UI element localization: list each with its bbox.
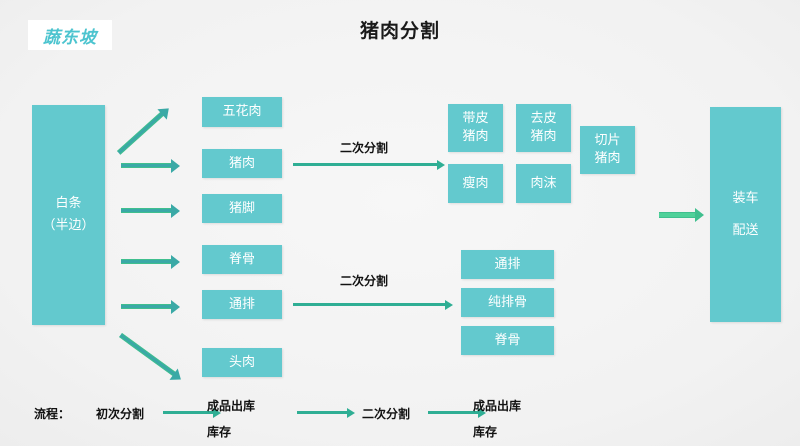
node-primary-cut-3[interactable]: 脊骨 (202, 245, 282, 274)
edge-label-secondary-cut-bone: 二次分割 (340, 272, 388, 289)
process-step-4: 成品出库 库存 (473, 393, 521, 445)
node-meat-secondary-3[interactable]: 瘦肉 (448, 164, 503, 203)
node-source-carcass[interactable]: 白条 （半边） (32, 105, 105, 325)
process-step-2-line1: 成品出库 (207, 393, 255, 419)
node-meat-secondary-1[interactable]: 去皮 猪肉 (516, 104, 571, 152)
node-meat-secondary-3-line1: 瘦肉 (462, 175, 488, 193)
node-delivery[interactable]: 装车 配送 (710, 107, 781, 322)
page-title: 猪肉分割 (0, 16, 800, 43)
node-meat-secondary-2[interactable]: 切片 猪肉 (580, 126, 635, 174)
node-bone-secondary-0-label: 通排 (494, 256, 520, 274)
node-meat-secondary-4-line1: 肉沫 (530, 175, 556, 193)
node-delivery-line1: 装车 (732, 190, 758, 208)
node-source-line1: 白条 (55, 195, 81, 213)
node-delivery-line2: 配送 (732, 222, 758, 240)
process-prefix: 流程： (34, 405, 70, 422)
node-primary-cut-1[interactable]: 猪肉 (202, 149, 282, 178)
arrow-source-to-pork-belly (114, 100, 173, 154)
process-step-4-line1: 成品出库 (473, 393, 521, 419)
process-step-1: 初次分割 (96, 405, 144, 422)
node-meat-secondary-1-line2: 猪肉 (530, 128, 556, 146)
node-meat-secondary-1-line1: 去皮 (530, 110, 556, 128)
arrow-source-to-head-meat (119, 329, 190, 384)
node-primary-cut-3-label: 脊骨 (229, 251, 255, 269)
node-meat-secondary-0-line2: 猪肉 (462, 128, 488, 146)
node-meat-secondary-4[interactable]: 肉沫 (516, 164, 571, 203)
process-step-2: 成品出库 库存 (207, 393, 255, 445)
node-primary-cut-2[interactable]: 猪脚 (202, 194, 282, 223)
node-meat-secondary-0[interactable]: 带皮 猪肉 (448, 104, 503, 152)
node-meat-secondary-0-line1: 带皮 (462, 110, 488, 128)
node-bone-secondary-2[interactable]: 脊骨 (461, 326, 554, 355)
node-primary-cut-5-label: 头肉 (229, 354, 255, 372)
slide-canvas: 蔬东坡 猪肉分割 白条 （半边） 五花肉 猪肉 (0, 0, 800, 446)
node-bone-secondary-2-label: 脊骨 (494, 332, 520, 350)
node-bone-secondary-1-label: 纯排骨 (488, 294, 527, 312)
node-primary-cut-0-label: 五花肉 (222, 103, 261, 121)
node-primary-cut-5[interactable]: 头肉 (202, 348, 282, 377)
node-primary-cut-4[interactable]: 通排 (202, 290, 282, 319)
node-bone-secondary-1[interactable]: 纯排骨 (461, 288, 554, 317)
process-step-2-line2: 库存 (207, 419, 255, 445)
node-source-line2: （半边） (42, 217, 94, 235)
edge-label-secondary-cut-meat: 二次分割 (340, 139, 388, 156)
node-primary-cut-0[interactable]: 五花肉 (202, 97, 282, 127)
node-meat-secondary-2-line2: 猪肉 (594, 150, 620, 168)
node-bone-secondary-0[interactable]: 通排 (461, 250, 554, 279)
node-primary-cut-2-label: 猪脚 (229, 200, 255, 218)
node-primary-cut-1-label: 猪肉 (229, 155, 255, 173)
node-primary-cut-4-label: 通排 (229, 296, 255, 314)
node-meat-secondary-2-line1: 切片 (594, 132, 620, 150)
process-step-3: 二次分割 (362, 405, 410, 422)
process-step-4-line2: 库存 (473, 419, 521, 445)
